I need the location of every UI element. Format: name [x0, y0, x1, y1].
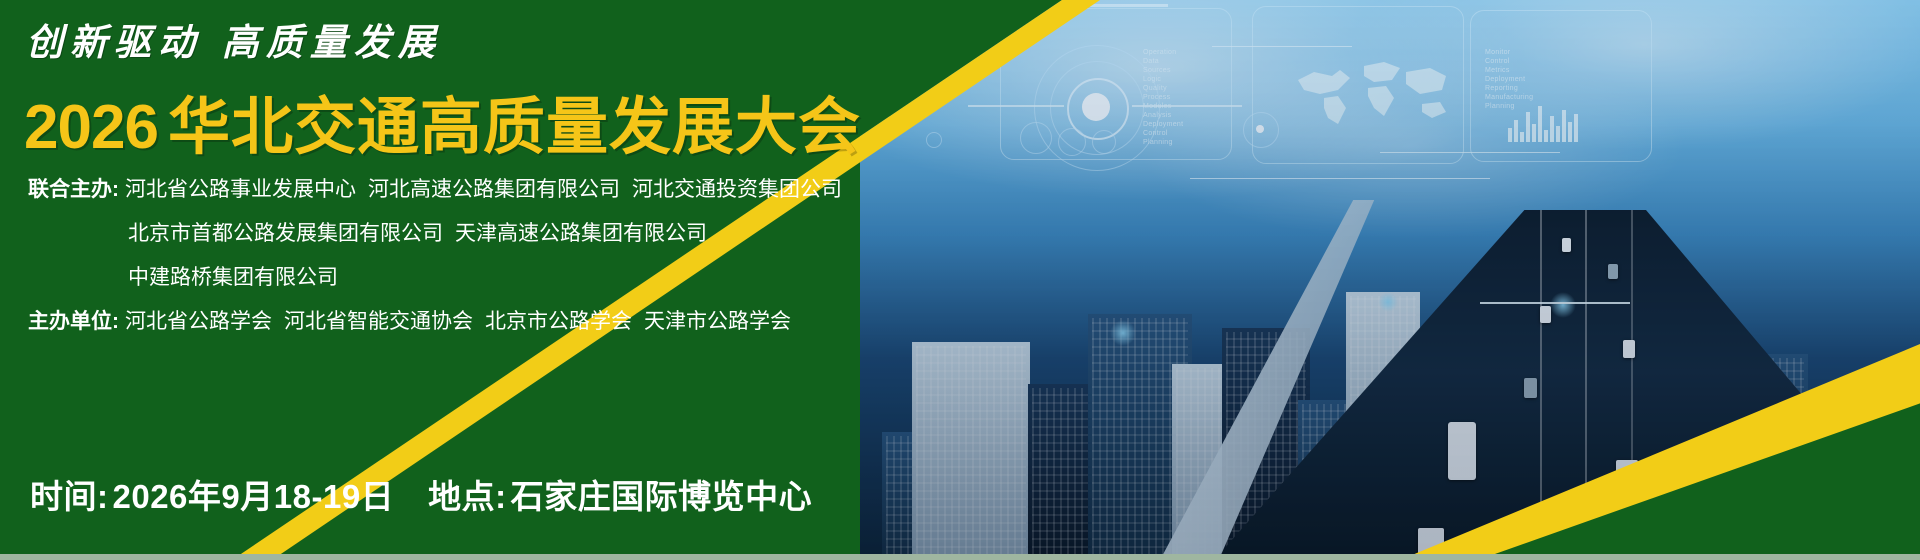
title-year: 2026 — [24, 93, 158, 162]
organizers-block: 联合主办:河北省公路事业发展中心河北高速公路集团有限公司河北交通投资集团公司 北… — [28, 168, 854, 344]
title-main: 华北交通高质量发展大会 — [168, 93, 861, 162]
time-value: 2026年9月18-19日 — [113, 478, 395, 515]
co-host-1-3: 河北交通投资集团公司 — [632, 178, 842, 201]
host-label: 主办单位: — [28, 310, 119, 333]
host-item-1: 河北省公路学会 — [125, 310, 272, 333]
page-title: 2026华北交通高质量发展大会 — [24, 76, 861, 166]
co-host-1-2: 河北高速公路集团有限公司 — [368, 178, 620, 201]
banner-content: 创新驱动 高质量发展 2026华北交通高质量发展大会 联合主办:河北省公路事业发… — [0, 0, 1920, 560]
co-host-line-3: 中建路桥集团有限公司 — [28, 256, 854, 300]
host-line: 主办单位:河北省公路学会河北省智能交通协会北京市公路学会天津市公路学会 — [28, 300, 854, 344]
slogan-text: 创新驱动 高质量发展 — [26, 12, 442, 66]
conference-banner: Operation Data Sources Logic Quality Pro… — [0, 0, 1920, 560]
co-host-line-2: 北京市首都公路发展集团有限公司天津高速公路集团有限公司 — [28, 212, 854, 256]
place-value: 石家庄国际博览中心 — [511, 478, 813, 515]
time-label: 时间: — [30, 478, 109, 515]
co-host-2-2: 天津高速公路集团有限公司 — [455, 222, 707, 245]
co-host-1-1: 河北省公路事业发展中心 — [125, 178, 356, 201]
co-host-2-1: 北京市首都公路发展集团有限公司 — [128, 222, 443, 245]
host-item-2: 河北省智能交通协会 — [284, 310, 473, 333]
event-details: 时间:2026年9月18-19日地点:石家庄国际博览中心 — [30, 470, 812, 518]
co-host-line-1: 联合主办:河北省公路事业发展中心河北高速公路集团有限公司河北交通投资集团公司 — [28, 168, 854, 212]
place-label: 地点: — [428, 478, 507, 515]
co-host-3-1: 中建路桥集团有限公司 — [128, 266, 338, 289]
host-item-3: 北京市公路学会 — [485, 310, 632, 333]
co-host-label: 联合主办: — [28, 178, 119, 201]
host-item-4: 天津市公路学会 — [644, 310, 791, 333]
